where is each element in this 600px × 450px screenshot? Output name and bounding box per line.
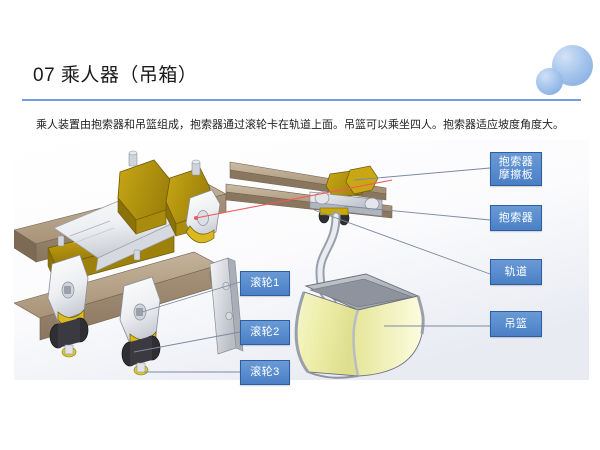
callout-roller-1[interactable]: 滚轮1 [240,271,290,296]
slide-canvas: 07 乘人器（吊箱） 乘人装置由抱索器和吊篮组成，抱索器通过滚轮卡在轨道上面。吊… [0,0,600,450]
callout-gripper[interactable]: 抱索器 [490,205,542,231]
callout-label: 吊篮 [505,318,528,331]
title-divider [22,99,581,101]
callout-label: 抱索器 [499,212,534,225]
decorative-circle-small [536,68,563,95]
callout-cabin[interactable]: 吊篮 [490,311,542,337]
callout-roller-2[interactable]: 滚轮2 [240,320,290,345]
callout-label: 滚轮3 [250,366,280,379]
callout-line-1: 抱索器 [499,156,534,169]
callout-friction-plate[interactable]: 抱索器 摩擦板 [490,152,542,186]
decorative-circles [530,42,600,104]
callout-label: 轨道 [505,266,528,279]
page-title: 07 乘人器（吊箱） [33,60,197,87]
callout-label: 滚轮1 [250,277,280,290]
subtitle-text: 乘人装置由抱索器和吊篮组成，抱索器通过滚轮卡在轨道上面。吊篮可以乘坐四人。抱索器… [36,118,576,133]
callout-line-2: 摩擦板 [499,169,534,182]
callout-label: 滚轮2 [250,326,280,339]
roller-hanger-1 [48,255,88,357]
callout-roller-3[interactable]: 滚轮3 [240,360,290,385]
callout-rail[interactable]: 轨道 [490,259,542,285]
